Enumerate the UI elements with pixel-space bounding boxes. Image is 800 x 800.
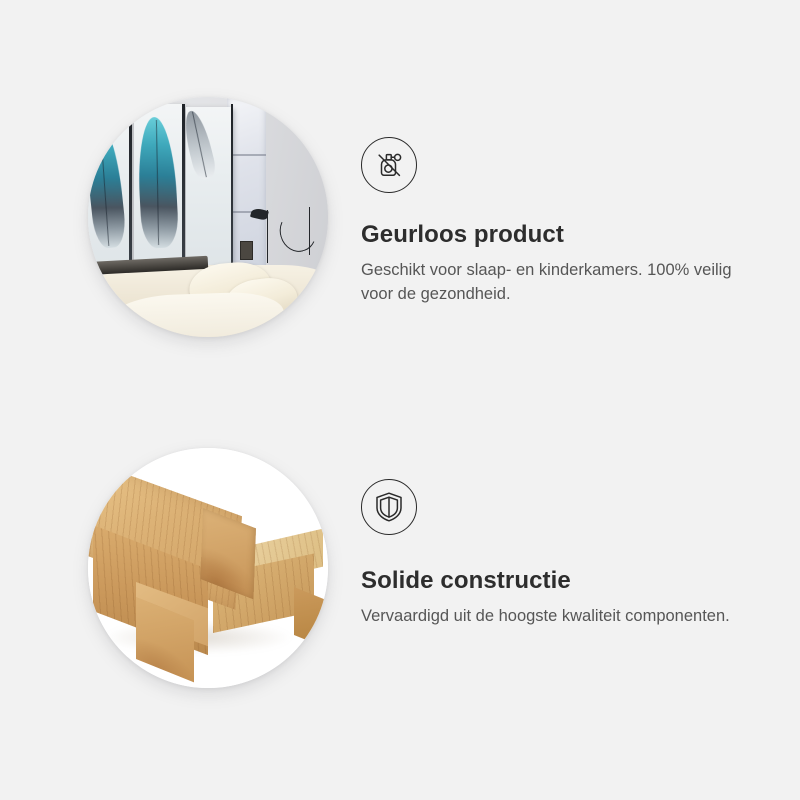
nightstand-frame: [240, 241, 253, 260]
bedroom-scene: [88, 97, 328, 337]
feather-art: [135, 116, 179, 248]
no-fragrance-icon: [361, 137, 417, 193]
wooden-beams-photo: [88, 448, 328, 688]
photo-circle: [88, 97, 328, 337]
panel-edge: [129, 104, 132, 267]
feather-art: [186, 108, 218, 181]
feature-item-solide-constructie: Solide constructie Vervaardigd uit de ho…: [0, 369, 800, 769]
panel-edge: [231, 104, 234, 267]
feature-title: Geurloos product: [361, 221, 761, 250]
feature-title: Solide constructie: [361, 567, 761, 596]
feature-list: Geurloos product Geschikt voor slaap- en…: [0, 0, 800, 800]
canvas-panel-2: [134, 104, 184, 267]
shield-icon: [361, 479, 417, 535]
feature-description: Vervaardigd uit de hoogste kwaliteit com…: [361, 605, 746, 629]
bedroom-feather-canvas-photo: [88, 97, 328, 337]
feature-image-geurloos-product: [88, 97, 328, 337]
canvas-panel-3: [186, 107, 232, 265]
feature-text-block: Solide constructie Vervaardigd uit de ho…: [361, 479, 761, 629]
panel-edge: [182, 104, 185, 267]
feature-image-solide-constructie: [88, 448, 328, 688]
floor-lamp-stem: [267, 210, 269, 263]
wood-beam-right-end: [294, 587, 328, 649]
wood-scene: [88, 448, 328, 688]
feature-item-geurloos-product: Geurloos product Geschikt voor slaap- en…: [0, 18, 800, 418]
feather-art: [88, 119, 128, 249]
feature-text-block: Geurloos product Geschikt voor slaap- en…: [361, 137, 761, 307]
photo-circle: [88, 448, 328, 688]
feature-description: Geschikt voor slaap- en kinderkamers. 10…: [361, 259, 746, 307]
arc-lamp-stem: [309, 207, 311, 255]
canvas-panel-1: [88, 104, 131, 267]
